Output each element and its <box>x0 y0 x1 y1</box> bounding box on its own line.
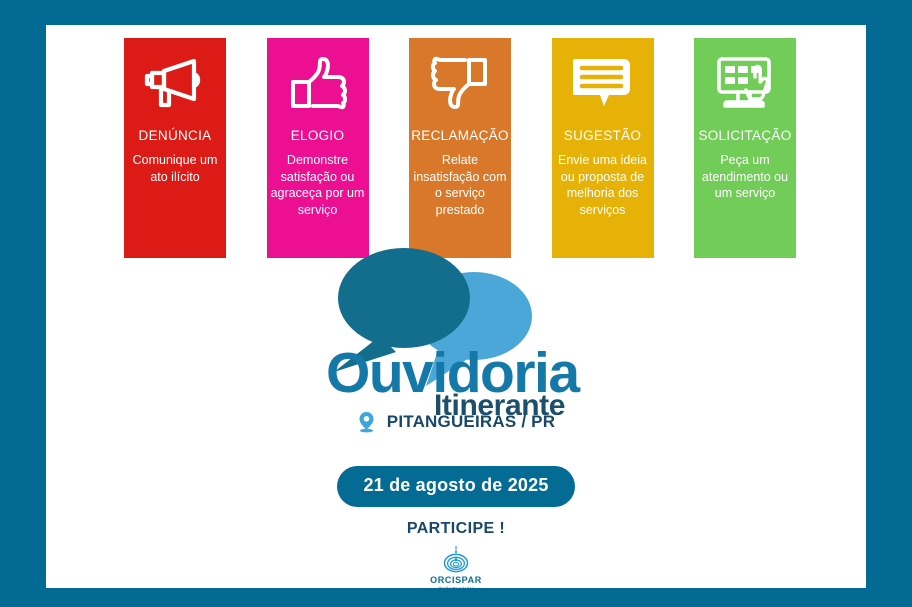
orcispar-logo: ORCISPAR Órgão Regulador <box>46 544 866 588</box>
category-card-elogio[interactable]: ELOGIO Demonstre satisfação ou agraceça … <box>267 38 369 258</box>
category-card-solicitacao[interactable]: SOLICITAÇÃO Peça um atendimento ou um se… <box>694 38 796 258</box>
card-description: Peça um atendimento ou um serviço <box>694 152 796 202</box>
category-card-row: DENÚNCIA Comunique um ato ilícito ELOGIO… <box>124 38 796 258</box>
poster-root: DENÚNCIA Comunique um ato ilícito ELOGIO… <box>0 0 912 607</box>
thumbs-down-icon <box>427 52 493 114</box>
speech-bubbles-logo-icon: Ouvidoria Itinerante <box>322 240 590 415</box>
megaphone-icon <box>142 52 208 114</box>
event-date-button[interactable]: 21 de agosto de 2025 <box>337 466 574 507</box>
event-date-row: 21 de agosto de 2025 <box>46 466 866 507</box>
card-description: Envie uma ideia ou proposta de melhoria … <box>552 152 654 219</box>
speech-bubble-lines-icon <box>570 52 636 114</box>
location-name: PITANGUEIRAS / PR <box>387 412 555 432</box>
category-card-reclamacao[interactable]: RECLAMAÇÃO Relate insatisfação com o ser… <box>409 38 511 258</box>
card-description: Relate insatisfação com o serviço presta… <box>409 152 511 219</box>
category-card-sugestao[interactable]: SUGESTÃO Envie uma ideia ou proposta de … <box>552 38 654 258</box>
thumbs-up-icon <box>285 52 351 114</box>
location-row: PITANGUEIRAS / PR <box>46 411 866 433</box>
card-title: SUGESTÃO <box>564 128 641 143</box>
card-title: SOLICITAÇÃO <box>698 128 791 143</box>
orcispar-name: ORCISPAR <box>430 575 482 585</box>
ouvidoria-logo: Ouvidoria Itinerante <box>46 240 866 415</box>
map-pin-icon <box>357 411 376 433</box>
monitor-hand-icon <box>712 52 778 114</box>
category-card-denuncia[interactable]: DENÚNCIA Comunique um ato ilícito <box>124 38 226 258</box>
card-title: DENÚNCIA <box>139 128 212 143</box>
card-title: RECLAMAÇÃO <box>411 128 509 143</box>
call-to-action-text: PARTICIPE ! <box>46 520 866 538</box>
poster-sheet: DENÚNCIA Comunique um ato ilícito ELOGIO… <box>46 25 866 588</box>
card-description: Demonstre satisfação ou agraceça por um … <box>267 152 369 219</box>
ripple-water-icon <box>434 544 478 576</box>
orcispar-subtitle: Órgão Regulador <box>438 586 473 588</box>
card-title: ELOGIO <box>291 128 345 143</box>
card-description: Comunique um ato ilícito <box>124 152 226 185</box>
